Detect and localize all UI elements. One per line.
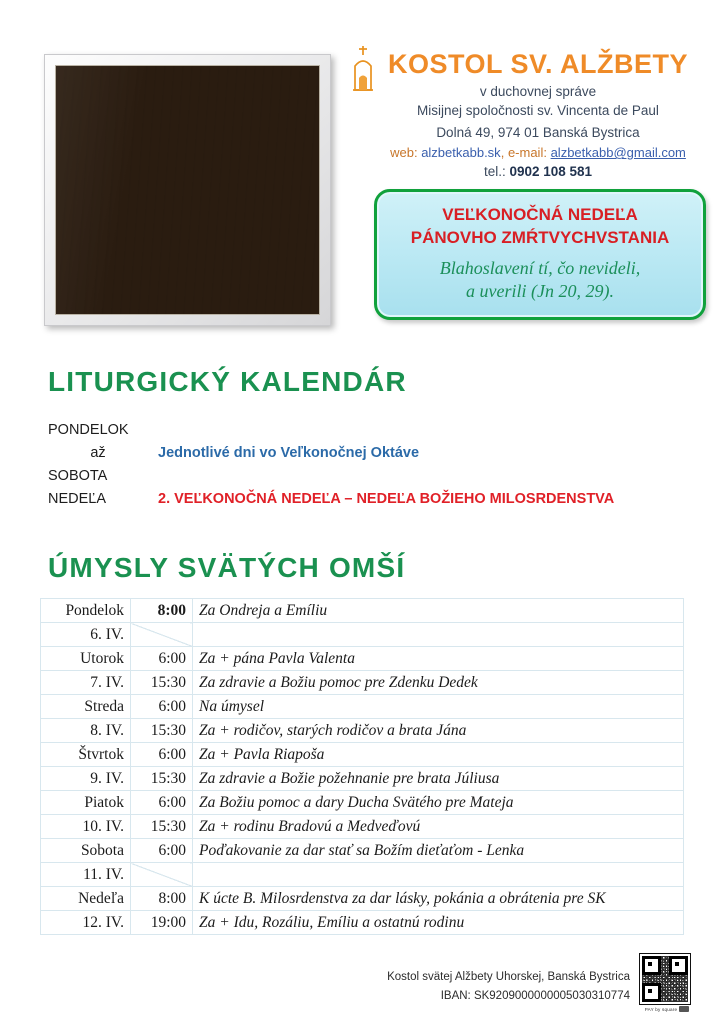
calendar-day-label: až	[48, 445, 148, 461]
table-row: Sobota6:00Poďakovanie za dar stať sa Bož…	[41, 839, 684, 863]
calendar-row: PONDELOK	[48, 422, 688, 445]
easter-title-line-1: VEĽKONOČNÁ NEDEĽA	[387, 204, 693, 227]
mass-day-name: Pondelok	[41, 599, 131, 623]
mass-day-date: 12. IV.	[41, 911, 131, 935]
mass-day-name: Utorok	[41, 647, 131, 671]
calendar-day-label: NEDEĽA	[48, 491, 148, 507]
mass-time: 19:00	[131, 911, 193, 935]
table-row: Piatok6:00Za Božiu pomoc a dary Ducha Sv…	[41, 791, 684, 815]
easter-verse-line-1: Blahoslavení tí, čo nevideli,	[387, 257, 693, 280]
web-label: web:	[390, 145, 417, 160]
title-block: KOSTOL SV. ALŽBETY v duchovnej správe Mi…	[383, 50, 693, 179]
mass-intention: K úcte B. Milosrdenstva za dar lásky, po…	[193, 887, 684, 911]
mass-intention: Za + Idu, Rozáliu, Emíliu a ostatnú rodi…	[193, 911, 684, 935]
contact-separator: ,	[501, 145, 505, 160]
calendar-day-label: SOBOTA	[48, 468, 148, 484]
mass-time: 6:00	[131, 791, 193, 815]
mass-day-name: Sobota	[41, 839, 131, 863]
table-row: 8. IV.15:30Za + rodičov, starých rodičov…	[41, 719, 684, 743]
calendar-day-description: Jednotlivé dni vo Veľkonočnej Oktáve	[148, 445, 419, 461]
mass-intentions-heading: ÚMYSLY SVÄTÝCH OMŠÍ	[48, 552, 405, 584]
qr-finder-top-right	[669, 956, 688, 975]
mass-intentions-body: Pondelok8:00Za Ondreja a Emíliu6. IV.Uto…	[41, 599, 684, 935]
table-row: Streda6:00Na úmysel	[41, 695, 684, 719]
mass-time: 6:00	[131, 647, 193, 671]
qr-finder-bottom-left	[642, 983, 661, 1002]
calendar-row: NEDEĽA2. VEĽKONOČNÁ NEDEĽA – NEDEĽA BOŽI…	[48, 491, 688, 514]
painting-frame	[44, 54, 331, 326]
tel-label: tel.:	[484, 164, 506, 179]
table-row: Štvrtok6:00Za + Pavla Riapoša	[41, 743, 684, 767]
mass-intention: Za + rodičov, starých rodičov a brata Já…	[193, 719, 684, 743]
mass-time: 15:30	[131, 767, 193, 791]
mass-day-name: Štvrtok	[41, 743, 131, 767]
footer: Kostol svätej Alžbety Uhorskej, Banská B…	[0, 946, 724, 1024]
church-subtitle-2: Misijnej spoločnosti sv. Vincenta de Pau…	[383, 102, 693, 121]
mass-intention: Za zdravie a Božiu pomoc pre Zdenku Dede…	[193, 671, 684, 695]
account-holder: Kostol svätej Alžbety Uhorskej, Banská B…	[300, 968, 630, 987]
mass-time: 15:30	[131, 815, 193, 839]
mass-intention: Za + pána Pavla Valenta	[193, 647, 684, 671]
mass-time: 6:00	[131, 743, 193, 767]
liturgical-calendar-list: PONDELOKažJednotlivé dni vo Veľkonočnej …	[48, 422, 688, 514]
liturgical-calendar-heading: LITURGICKÝ KALENDÁR	[48, 366, 407, 398]
mass-day-date: 11. IV.	[41, 863, 131, 887]
mass-day-date: 10. IV.	[41, 815, 131, 839]
church-address: Dolná 49, 974 01 Banská Bystrica	[383, 124, 693, 143]
qr-caption: PAY by square	[639, 1006, 695, 1012]
calendar-row: SOBOTA	[48, 468, 688, 491]
qr-finder-top-left	[642, 956, 661, 975]
bank-details: Kostol svätej Alžbety Uhorskej, Banská B…	[300, 968, 630, 1006]
easter-announcement-box: VEĽKONOČNÁ NEDEĽA PÁNOVHO ZMŔTVYCHVSTANI…	[374, 189, 706, 320]
mass-time	[131, 863, 193, 887]
header: KOSTOL SV. ALŽBETY v duchovnej správe Mi…	[0, 0, 724, 340]
qr-code-icon[interactable]	[639, 953, 691, 1005]
contact-line: web: alzbetkabb.sk, e-mail: alzbetkabb@g…	[383, 145, 693, 160]
calendar-row: ažJednotlivé dni vo Veľkonočnej Oktáve	[48, 445, 688, 468]
tel-value: 0902 108 581	[509, 164, 592, 179]
mass-day-date: 7. IV.	[41, 671, 131, 695]
qr-caption-text: PAY by square	[645, 1007, 677, 1012]
mass-time	[131, 623, 193, 647]
painting-canvas	[55, 65, 320, 315]
telephone-line: tel.: 0902 108 581	[383, 164, 693, 179]
mass-intention	[193, 623, 684, 647]
church-name: KOSTOL SV. ALŽBETY	[383, 50, 693, 78]
mass-day-name: Nedeľa	[41, 887, 131, 911]
mass-day-date: 9. IV.	[41, 767, 131, 791]
mass-intentions-table: Pondelok8:00Za Ondreja a Emíliu6. IV.Uto…	[40, 598, 684, 935]
mass-time: 6:00	[131, 695, 193, 719]
mass-intention: Za + rodinu Bradovú a Medveďovú	[193, 815, 684, 839]
email-link[interactable]: alzbetkabb@gmail.com	[551, 145, 686, 160]
church-icon	[345, 44, 381, 94]
mass-intention: Za + Pavla Riapoša	[193, 743, 684, 767]
mass-time: 15:30	[131, 719, 193, 743]
mass-intention	[193, 863, 684, 887]
easter-title-line-2: PÁNOVHO ZMŔTVYCHVSTANIA	[387, 227, 693, 250]
mass-time: 8:00	[131, 599, 193, 623]
calendar-day-label: PONDELOK	[48, 422, 148, 438]
mass-day-date: 6. IV.	[41, 623, 131, 647]
iban-number: IBAN: SK9209000000005030310774	[300, 987, 630, 1006]
table-row: Utorok6:00Za + pána Pavla Valenta	[41, 647, 684, 671]
mass-intention: Za zdravie a Božie požehnanie pre brata …	[193, 767, 684, 791]
qr-code-wrapper: PAY by square	[639, 953, 695, 1012]
pay-by-square-badge-icon	[679, 1006, 689, 1012]
mass-time: 15:30	[131, 671, 193, 695]
table-row: Nedeľa8:00K úcte B. Milosrdenstva za dar…	[41, 887, 684, 911]
web-link[interactable]: alzbetkabb.sk	[421, 145, 501, 160]
mass-day-name: Streda	[41, 695, 131, 719]
church-subtitle-1: v duchovnej správe	[383, 83, 693, 102]
mass-intention: Na úmysel	[193, 695, 684, 719]
table-row: 7. IV.15:30Za zdravie a Božiu pomoc pre …	[41, 671, 684, 695]
mass-day-date: 8. IV.	[41, 719, 131, 743]
mass-intention: Poďakovanie za dar stať sa Božím dieťaťo…	[193, 839, 684, 863]
mass-day-name: Piatok	[41, 791, 131, 815]
table-row: 12. IV.19:00Za + Idu, Rozáliu, Emíliu a …	[41, 911, 684, 935]
easter-verse-line-2: a uverili (Jn 20, 29).	[387, 280, 693, 303]
painting-image	[56, 66, 319, 314]
table-row: 11. IV.	[41, 863, 684, 887]
mass-intention: Za Ondreja a Emíliu	[193, 599, 684, 623]
calendar-day-description: 2. VEĽKONOČNÁ NEDEĽA – NEDEĽA BOŽIEHO MI…	[148, 491, 614, 507]
table-row: 10. IV.15:30Za + rodinu Bradovú a Medveď…	[41, 815, 684, 839]
mass-intention: Za Božiu pomoc a dary Ducha Svätého pre …	[193, 791, 684, 815]
table-row: 9. IV.15:30Za zdravie a Božie požehnanie…	[41, 767, 684, 791]
mass-time: 8:00	[131, 887, 193, 911]
table-row: 6. IV.	[41, 623, 684, 647]
table-row: Pondelok8:00Za Ondreja a Emíliu	[41, 599, 684, 623]
email-label: e-mail:	[508, 145, 547, 160]
mass-time: 6:00	[131, 839, 193, 863]
